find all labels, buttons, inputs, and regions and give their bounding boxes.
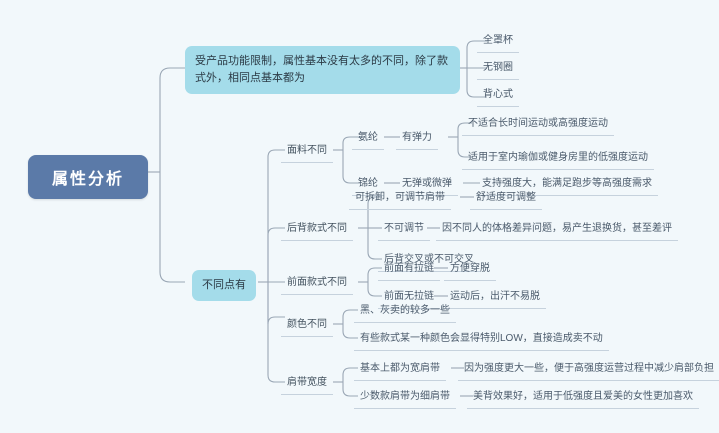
branch-same-points[interactable]: 受产品功能限制，属性基本没有太多的不同，除了款式外，相同点基本都为: [185, 46, 460, 94]
category-color[interactable]: 颜色不同: [281, 315, 333, 337]
category-front-style[interactable]: 前面款式不同: [281, 273, 353, 295]
category-strap-width[interactable]: 肩带宽度: [281, 373, 333, 395]
note-spandex-1[interactable]: 不适合长时间运动或高强度运动: [462, 114, 614, 136]
branch-diff-points[interactable]: 不同点有: [192, 270, 256, 301]
category-fabric[interactable]: 面料不同: [281, 141, 333, 163]
desc-wide-strap[interactable]: 因为强度更大一些，便于高强度运营过程中减少肩部负担: [458, 359, 719, 381]
item-thin-strap[interactable]: 少数款肩带为细肩带: [354, 387, 456, 409]
item-spandex[interactable]: 氨纶: [352, 128, 384, 150]
item-color-popular[interactable]: 黑、灰卖的较多一些: [354, 301, 456, 323]
item-detachable-strap[interactable]: 可拆卸，可调节肩带: [349, 188, 451, 210]
desc-spandex[interactable]: 有弹力: [396, 128, 438, 150]
item-color-low[interactable]: 有些款式某一种颜色会显得特别LOW，直接造成卖不动: [354, 329, 609, 351]
desc-thin-strap[interactable]: 美背效果好，适用于低强度且爱美的女性更加喜欢: [467, 387, 699, 409]
leaf-no-underwire[interactable]: 无钢圈: [477, 58, 519, 80]
leaf-full-cup[interactable]: 全罩杯: [477, 31, 519, 53]
desc-detachable-strap[interactable]: 舒适度可调整: [470, 188, 542, 210]
category-back-style[interactable]: 后背款式不同: [281, 219, 353, 241]
desc-front-zipper[interactable]: 方便穿脱: [444, 259, 496, 281]
desc-no-front-zipper[interactable]: 运动后，出汗不易脱: [444, 287, 546, 309]
desc-non-adjustable[interactable]: 因不同人的体格差异问题，易产生退换货，甚至差评: [436, 219, 678, 241]
item-front-zipper[interactable]: 前面有拉链: [378, 259, 440, 281]
note-spandex-2[interactable]: 适用于室内瑜伽或健身房里的低强度运动: [462, 148, 654, 170]
leaf-vest-style[interactable]: 背心式: [477, 85, 519, 107]
item-non-adjustable[interactable]: 不可调节: [378, 219, 430, 241]
mindmap-canvas: 属性分析 受产品功能限制，属性基本没有太多的不同，除了款式外，相同点基本都为 全…: [0, 0, 719, 433]
item-wide-strap[interactable]: 基本上都为宽肩带: [354, 359, 446, 381]
root-node[interactable]: 属性分析: [28, 155, 148, 199]
